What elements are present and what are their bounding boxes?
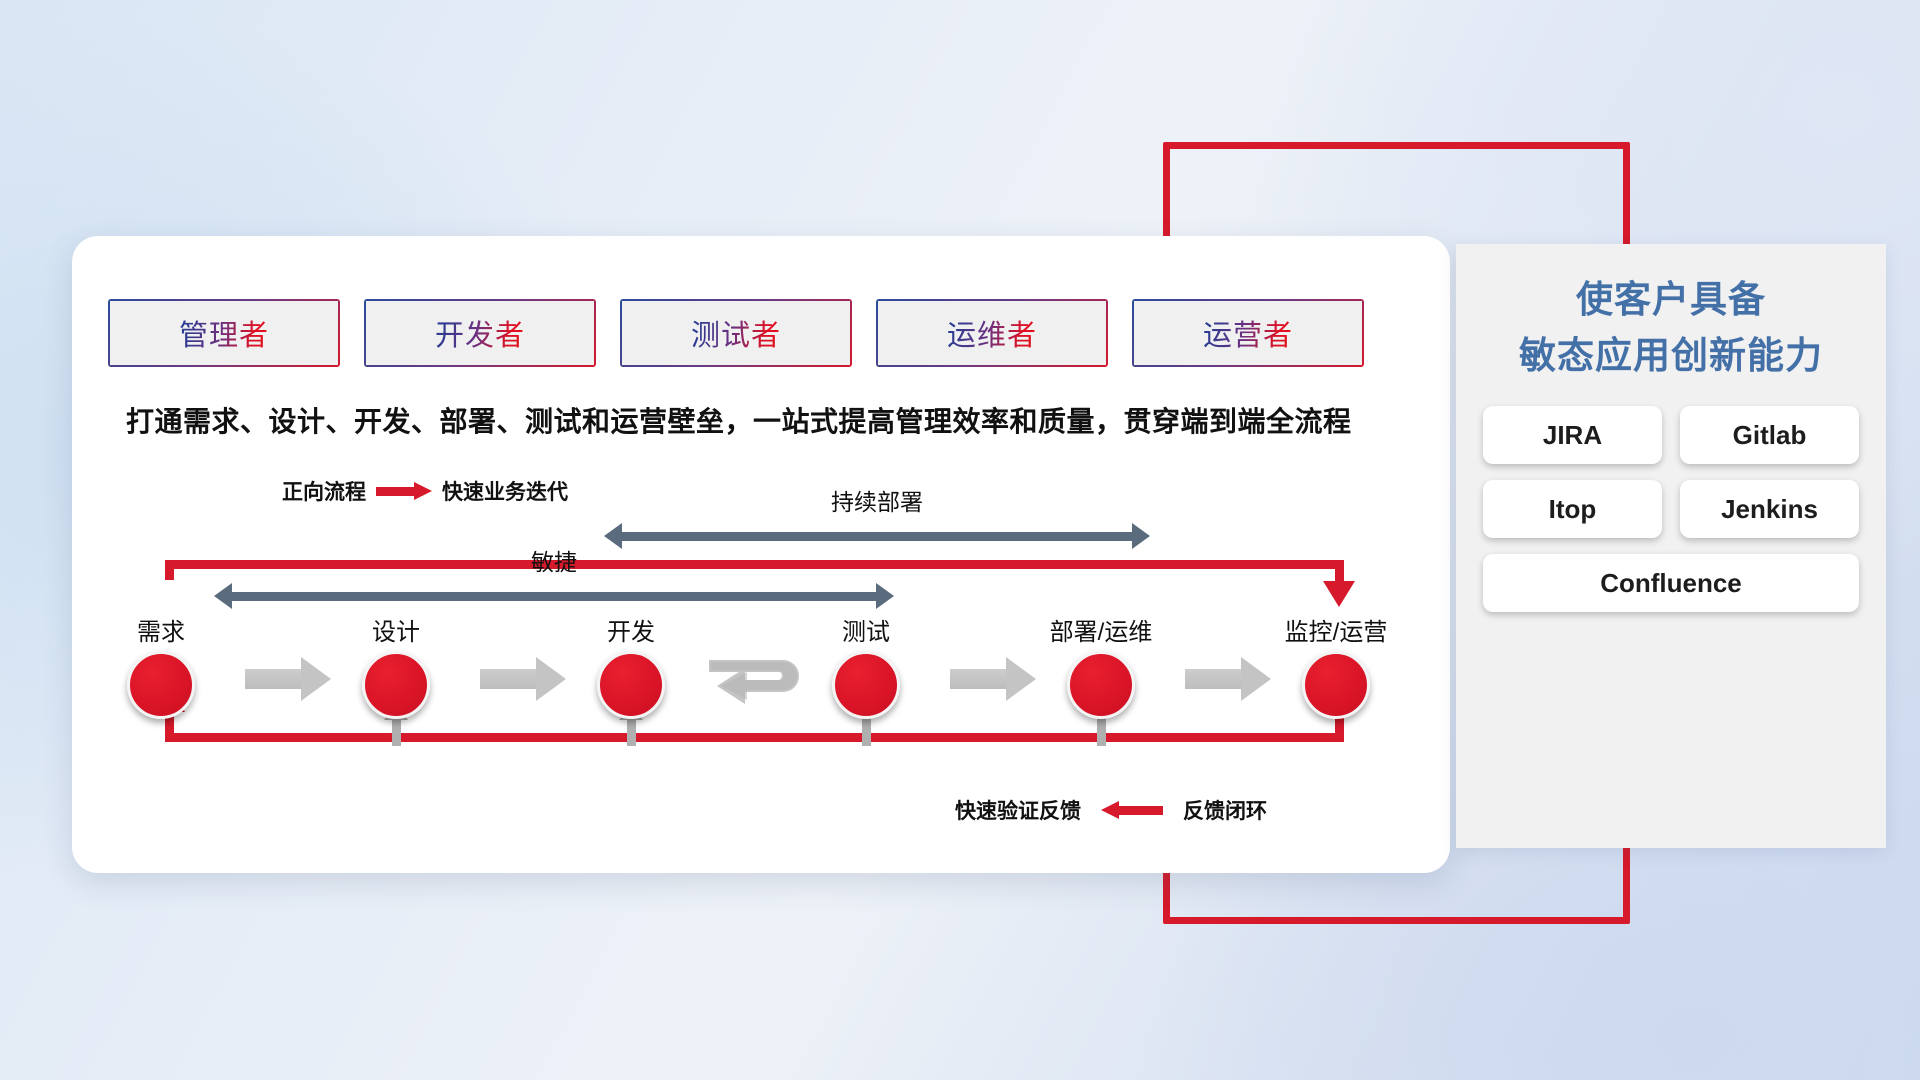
node-dot-icon	[127, 651, 195, 719]
pipeline-node-monitor-operations[interactable]: 监控/运营	[1256, 612, 1416, 719]
tool-chip-confluence[interactable]: Confluence	[1483, 554, 1859, 612]
cycle-arrow-dev-test-icon	[705, 646, 825, 719]
role-label: 运维者	[947, 312, 1037, 354]
tool-chip-gitlab[interactable]: Gitlab	[1680, 406, 1859, 464]
value-proposition-panel: 使客户具备 敏态应用创新能力 JIRA Gitlab Itop Jenkins …	[1456, 244, 1886, 848]
role-inner: 管理者	[110, 301, 338, 365]
role-inner: 测试者	[622, 301, 850, 365]
panel-title: 使客户具备 敏态应用创新能力	[1456, 272, 1886, 384]
continuous-deployment-label: 持续部署	[604, 483, 1150, 517]
tool-chip-itop[interactable]: Itop	[1483, 480, 1662, 538]
red-left-arrow-icon	[1101, 801, 1163, 819]
role-label: 管理者	[179, 312, 269, 354]
node-label: 开发	[551, 612, 711, 647]
node-label: 监控/运营	[1256, 612, 1416, 647]
node-label: 部署/运维	[1021, 612, 1181, 647]
node-label: 需求	[81, 612, 241, 647]
headline-text: 打通需求、设计、开发、部署、测试和运营壁垒，一站式提高管理效率和质量，贯穿端到端…	[126, 400, 1426, 440]
node-dot-icon	[1067, 651, 1135, 719]
arrow-right-head-icon	[876, 583, 894, 609]
feedback-verify-label: 快速验证反馈	[955, 795, 1081, 825]
pipeline-node-develop[interactable]: 开发	[551, 612, 711, 719]
feedback-loop-legend: 快速验证反馈 反馈闭环	[955, 795, 1267, 825]
role-label: 开发者	[435, 312, 525, 354]
agile-label: 敏捷	[214, 543, 894, 577]
arrow-shaft	[621, 532, 1133, 541]
flow-arrow-req-to-design	[245, 657, 331, 701]
arrow-right-head-icon	[1132, 523, 1150, 549]
red-loop-left-top	[165, 560, 174, 580]
role-label: 运营者	[1203, 312, 1293, 354]
forward-flow-outcome: 快速业务迭代	[442, 476, 568, 506]
agile-span: 敏捷	[214, 583, 894, 609]
red-right-arrow-icon	[376, 482, 432, 500]
panel-title-line2: 敏态应用创新能力	[1456, 328, 1886, 384]
role-label: 测试者	[691, 312, 781, 354]
arrow-left-head-icon	[214, 583, 232, 609]
node-dot-icon	[597, 651, 665, 719]
role-inner: 运营者	[1134, 301, 1362, 365]
pipeline-node-requirement[interactable]: 需求	[81, 612, 241, 719]
role-box-manager[interactable]: 管理者	[108, 299, 340, 367]
slide-canvas: 管理者 开发者 测试者 运维者 运营者 打通需求、设计、开发、部署、测试和运营壁…	[0, 0, 1920, 1080]
red-loop-bottom	[165, 733, 1344, 742]
stem-design	[392, 718, 401, 746]
pipeline-node-design[interactable]: 设计	[316, 612, 476, 719]
feedback-loop-label: 反馈闭环	[1183, 795, 1267, 825]
forward-flow-label: 正向流程	[282, 476, 366, 506]
role-inner: 运维者	[878, 301, 1106, 365]
pipeline-node-deploy-ops[interactable]: 部署/运维	[1021, 612, 1181, 719]
role-box-operations[interactable]: 运营者	[1132, 299, 1364, 367]
tool-chip-list: JIRA Gitlab Itop Jenkins Confluence	[1483, 406, 1859, 612]
panel-title-line1: 使客户具备	[1456, 272, 1886, 328]
forward-flow-legend: 正向流程 快速业务迭代	[282, 476, 568, 506]
flow-arrow-test-to-deploy	[950, 657, 1036, 701]
flow-arrow-design-to-dev	[480, 657, 566, 701]
role-box-ops[interactable]: 运维者	[876, 299, 1108, 367]
role-box-tester[interactable]: 测试者	[620, 299, 852, 367]
tool-chip-jira[interactable]: JIRA	[1483, 406, 1662, 464]
stem-develop	[627, 718, 636, 746]
role-box-developer[interactable]: 开发者	[364, 299, 596, 367]
role-inner: 开发者	[366, 301, 594, 365]
node-dot-icon	[362, 651, 430, 719]
flow-arrow-deploy-to-monitor	[1185, 657, 1271, 701]
node-label: 设计	[316, 612, 476, 647]
red-arrow-down-icon	[1323, 581, 1355, 607]
node-label: 测试	[786, 612, 946, 647]
arrow-shaft	[231, 592, 877, 601]
node-dot-icon	[1302, 651, 1370, 719]
role-box-row: 管理者 开发者 测试者 运维者 运营者	[108, 299, 1364, 367]
tool-chip-jenkins[interactable]: Jenkins	[1680, 480, 1859, 538]
node-dot-icon	[832, 651, 900, 719]
